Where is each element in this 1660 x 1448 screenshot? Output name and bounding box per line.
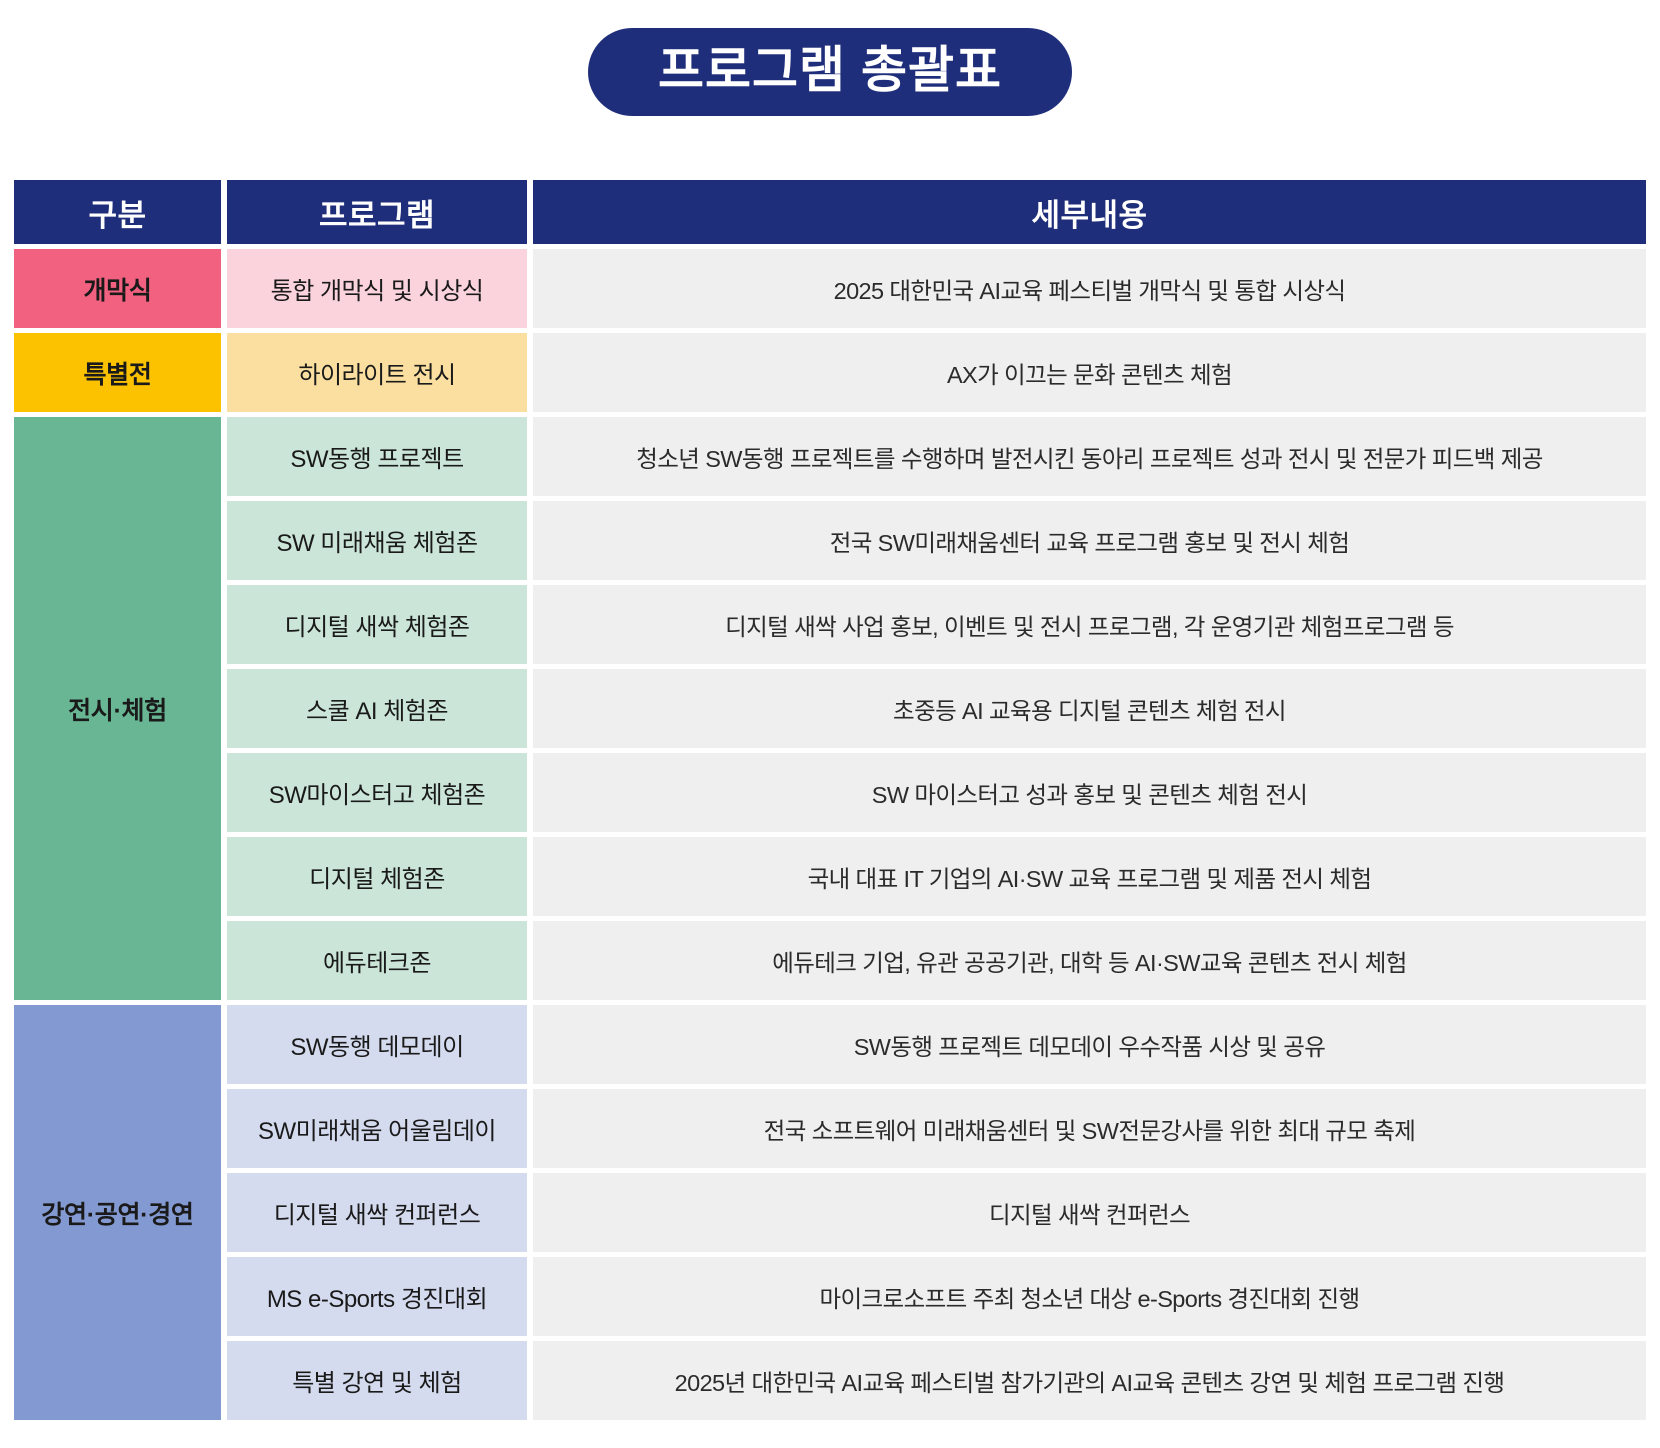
program-cell: 디지털 새싹 체험존	[227, 585, 527, 664]
detail-cell: 청소년 SW동행 프로젝트를 수행하며 발전시킨 동아리 프로젝트 성과 전시 …	[533, 417, 1646, 496]
category-label: 개막식	[83, 271, 151, 307]
program-cell: SW동행 프로젝트	[227, 417, 527, 496]
program-cell: SW마이스터고 체험존	[227, 753, 527, 832]
category-cell: 특별전	[14, 333, 221, 412]
category-cell: 개막식	[14, 249, 221, 328]
detail-cell: 2025년 대한민국 AI교육 페스티벌 참가기관의 AI교육 콘텐츠 강연 및…	[533, 1341, 1646, 1420]
detail-cell: SW동행 프로젝트 데모데이 우수작품 시상 및 공유	[533, 1005, 1646, 1084]
category-label: 강연·공연·경연	[41, 1195, 193, 1231]
program-cell: MS e-Sports 경진대회	[227, 1257, 527, 1336]
header-category: 구분	[14, 180, 221, 244]
table-header-row: 구분 프로그램 세부내용	[14, 180, 1646, 244]
rows-column: 통합 개막식 및 시상식2025 대한민국 AI교육 페스티벌 개막식 및 통합…	[227, 249, 1646, 1420]
program-cell: 디지털 새싹 컨퍼런스	[227, 1173, 527, 1252]
title-container: 프로그램 총괄표	[0, 28, 1660, 116]
page-title: 프로그램 총괄표	[588, 28, 1072, 116]
program-overview-page: 프로그램 총괄표 구분 프로그램 세부내용 개막식특별전전시·체험강연·공연·경…	[0, 0, 1660, 1448]
table-row: 특별 강연 및 체험2025년 대한민국 AI교육 페스티벌 참가기관의 AI교…	[227, 1341, 1646, 1420]
table-row: 디지털 새싹 체험존디지털 새싹 사업 홍보, 이벤트 및 전시 프로그램, 각…	[227, 585, 1646, 664]
program-cell: 하이라이트 전시	[227, 333, 527, 412]
table-row: MS e-Sports 경진대회마이크로소프트 주최 청소년 대상 e-Spor…	[227, 1257, 1646, 1336]
table-row: 디지털 새싹 컨퍼런스디지털 새싹 컨퍼런스	[227, 1173, 1646, 1252]
category-cell: 강연·공연·경연	[14, 1005, 221, 1420]
table-row: SW마이스터고 체험존SW 마이스터고 성과 홍보 및 콘텐츠 체험 전시	[227, 753, 1646, 832]
table-row: 스쿨 AI 체험존초중등 AI 교육용 디지털 콘텐츠 체험 전시	[227, 669, 1646, 748]
program-cell: 특별 강연 및 체험	[227, 1341, 527, 1420]
detail-cell: 디지털 새싹 컨퍼런스	[533, 1173, 1646, 1252]
detail-cell: 디지털 새싹 사업 홍보, 이벤트 및 전시 프로그램, 각 운영기관 체험프로…	[533, 585, 1646, 664]
table-row: 통합 개막식 및 시상식2025 대한민국 AI교육 페스티벌 개막식 및 통합…	[227, 249, 1646, 328]
program-cell: 디지털 체험존	[227, 837, 527, 916]
table-row: 에듀테크존에듀테크 기업, 유관 공공기관, 대학 등 AI·SW교육 콘텐츠 …	[227, 921, 1646, 1000]
category-column: 개막식특별전전시·체험강연·공연·경연	[14, 249, 221, 1420]
table-row: SW 미래채움 체험존전국 SW미래채움센터 교육 프로그램 홍보 및 전시 체…	[227, 501, 1646, 580]
table-row: SW동행 데모데이SW동행 프로젝트 데모데이 우수작품 시상 및 공유	[227, 1005, 1646, 1084]
table-row: 디지털 체험존국내 대표 IT 기업의 AI·SW 교육 프로그램 및 제품 전…	[227, 837, 1646, 916]
program-cell: SW미래채움 어울림데이	[227, 1089, 527, 1168]
detail-cell: 에듀테크 기업, 유관 공공기관, 대학 등 AI·SW교육 콘텐츠 전시 체험	[533, 921, 1646, 1000]
category-label: 전시·체험	[68, 691, 167, 727]
detail-cell: SW 마이스터고 성과 홍보 및 콘텐츠 체험 전시	[533, 753, 1646, 832]
table-row: SW동행 프로젝트청소년 SW동행 프로젝트를 수행하며 발전시킨 동아리 프로…	[227, 417, 1646, 496]
header-program: 프로그램	[227, 180, 527, 244]
category-label: 특별전	[83, 355, 151, 391]
detail-cell: 마이크로소프트 주최 청소년 대상 e-Sports 경진대회 진행	[533, 1257, 1646, 1336]
detail-cell: AX가 이끄는 문화 콘텐츠 체험	[533, 333, 1646, 412]
table-body: 개막식특별전전시·체험강연·공연·경연 통합 개막식 및 시상식2025 대한민…	[14, 249, 1646, 1420]
detail-cell: 초중등 AI 교육용 디지털 콘텐츠 체험 전시	[533, 669, 1646, 748]
detail-cell: 전국 SW미래채움센터 교육 프로그램 홍보 및 전시 체험	[533, 501, 1646, 580]
program-cell: SW 미래채움 체험존	[227, 501, 527, 580]
detail-cell: 2025 대한민국 AI교육 페스티벌 개막식 및 통합 시상식	[533, 249, 1646, 328]
program-table: 구분 프로그램 세부내용 개막식특별전전시·체험강연·공연·경연 통합 개막식 …	[14, 180, 1646, 1420]
program-cell: SW동행 데모데이	[227, 1005, 527, 1084]
detail-cell: 국내 대표 IT 기업의 AI·SW 교육 프로그램 및 제품 전시 체험	[533, 837, 1646, 916]
table-row: 하이라이트 전시AX가 이끄는 문화 콘텐츠 체험	[227, 333, 1646, 412]
table-row: SW미래채움 어울림데이전국 소프트웨어 미래채움센터 및 SW전문강사를 위한…	[227, 1089, 1646, 1168]
category-cell: 전시·체험	[14, 417, 221, 1000]
program-cell: 에듀테크존	[227, 921, 527, 1000]
program-cell: 통합 개막식 및 시상식	[227, 249, 527, 328]
header-details: 세부내용	[533, 180, 1646, 244]
detail-cell: 전국 소프트웨어 미래채움센터 및 SW전문강사를 위한 최대 규모 축제	[533, 1089, 1646, 1168]
program-cell: 스쿨 AI 체험존	[227, 669, 527, 748]
